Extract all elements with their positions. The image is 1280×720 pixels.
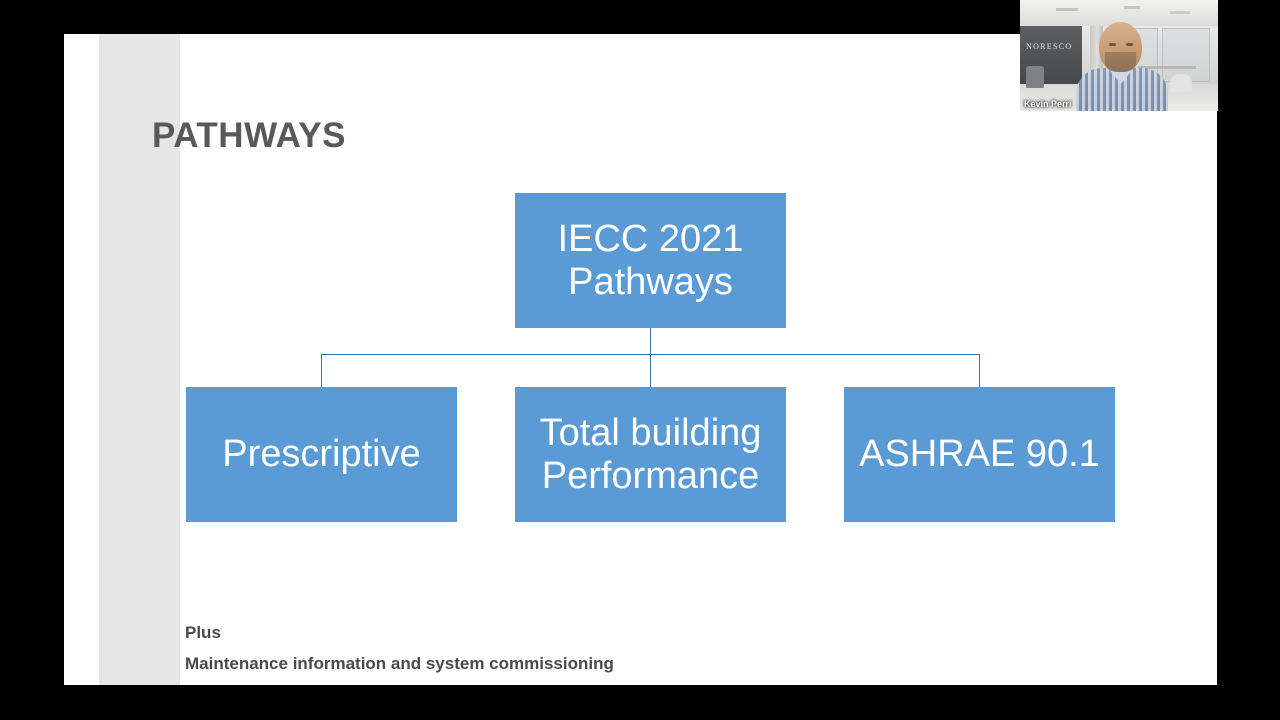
- chart-node-root-label: IECC 2021 Pathways: [558, 218, 744, 303]
- chart-node-root: IECC 2021 Pathways: [515, 193, 786, 328]
- screen-share-viewport: PATHWAYS IECC 2021 Pathways Prescriptive…: [0, 0, 1280, 720]
- chart-node-total-building-performance: Total building Performance: [515, 387, 786, 522]
- presentation-slide: PATHWAYS IECC 2021 Pathways Prescriptive…: [64, 34, 1217, 685]
- video-backdrop-chair: [1026, 66, 1044, 88]
- connector-horizontal-bus: [321, 354, 980, 355]
- org-chart: IECC 2021 Pathways Prescriptive Total bu…: [64, 34, 1217, 685]
- footer-line-plus: Plus: [185, 617, 614, 648]
- connector-drop-left: [321, 354, 322, 387]
- participant-beard: [1105, 52, 1136, 72]
- connector-drop-right: [979, 354, 980, 387]
- participant-name-badge: Kevin Perri: [1024, 99, 1072, 109]
- video-backdrop-chair: [1170, 74, 1192, 92]
- video-backdrop-ceiling-light: [1124, 6, 1140, 9]
- chart-node-prescriptive-label: Prescriptive: [222, 433, 421, 476]
- slide-footer-note: Plus Maintenance information and system …: [185, 617, 614, 680]
- participant-video-tile[interactable]: NORESCO Kevin Perri: [1020, 0, 1218, 111]
- chart-node-prescriptive: Prescriptive: [186, 387, 457, 522]
- noresco-logo: NORESCO: [1026, 42, 1072, 51]
- chart-node-total-building-performance-label: Total building Performance: [540, 412, 762, 497]
- participant-eye-left: [1109, 43, 1116, 46]
- video-backdrop-ceiling-light: [1056, 8, 1078, 11]
- participant-eye-right: [1126, 43, 1133, 46]
- connector-stem: [650, 328, 651, 387]
- footer-line-maintenance: Maintenance information and system commi…: [185, 648, 614, 679]
- video-backdrop-ceiling-light: [1170, 11, 1190, 14]
- chart-node-ashrae-90-1: ASHRAE 90.1: [844, 387, 1115, 522]
- chart-node-ashrae-90-1-label: ASHRAE 90.1: [859, 433, 1100, 476]
